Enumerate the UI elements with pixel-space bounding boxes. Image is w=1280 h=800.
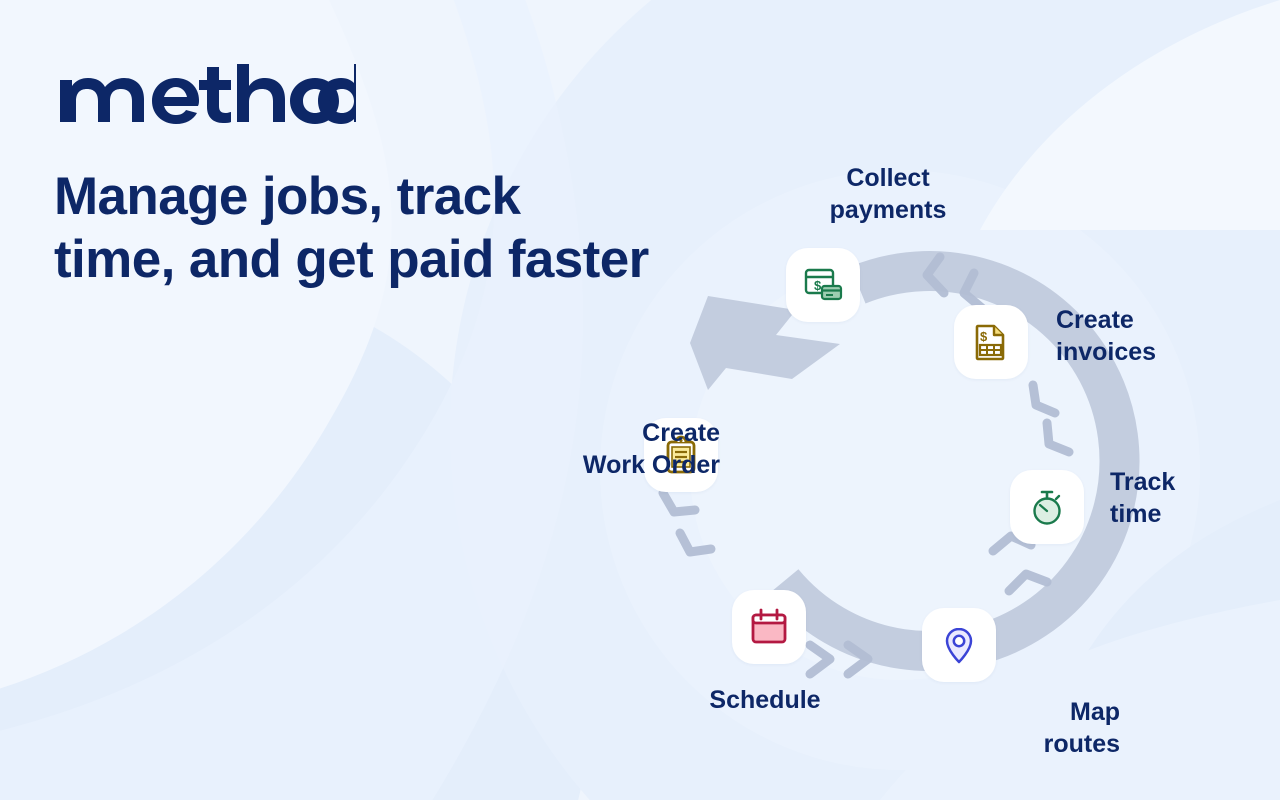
method-wordmark-icon — [56, 64, 356, 126]
cycle-node-track-time[interactable] — [1010, 470, 1084, 544]
cycle-label-create-work-order: Create Work Order — [450, 418, 720, 481]
cycle-node-map-routes[interactable] — [922, 608, 996, 682]
calendar-icon — [748, 606, 790, 648]
cycle-label-create-invoices: Create invoices — [1056, 305, 1276, 368]
slide-canvas: Manage jobs, track time, and get paid fa… — [0, 0, 1280, 800]
map-pin-icon — [938, 624, 980, 666]
cycle-node-collect-payments[interactable]: $ — [786, 248, 860, 322]
cycle-label-track-time: Track time — [1110, 467, 1280, 530]
cycle-node-schedule[interactable] — [732, 590, 806, 664]
svg-text:$: $ — [814, 278, 822, 293]
cycle-node-create-invoices[interactable]: $ — [954, 305, 1028, 379]
workflow-cycle-diagram: $ Collect payments $ Create invoices — [540, 130, 1280, 800]
cycle-label-schedule: Schedule — [635, 685, 895, 717]
payment-card-icon: $ — [802, 264, 844, 306]
brand-logo — [56, 64, 356, 126]
cycle-label-map-routes: Map routes — [920, 697, 1120, 760]
stopwatch-icon — [1026, 486, 1068, 528]
invoice-document-icon: $ — [970, 321, 1012, 363]
cycle-label-collect-payments: Collect payments — [778, 163, 998, 226]
svg-text:$: $ — [980, 329, 988, 344]
